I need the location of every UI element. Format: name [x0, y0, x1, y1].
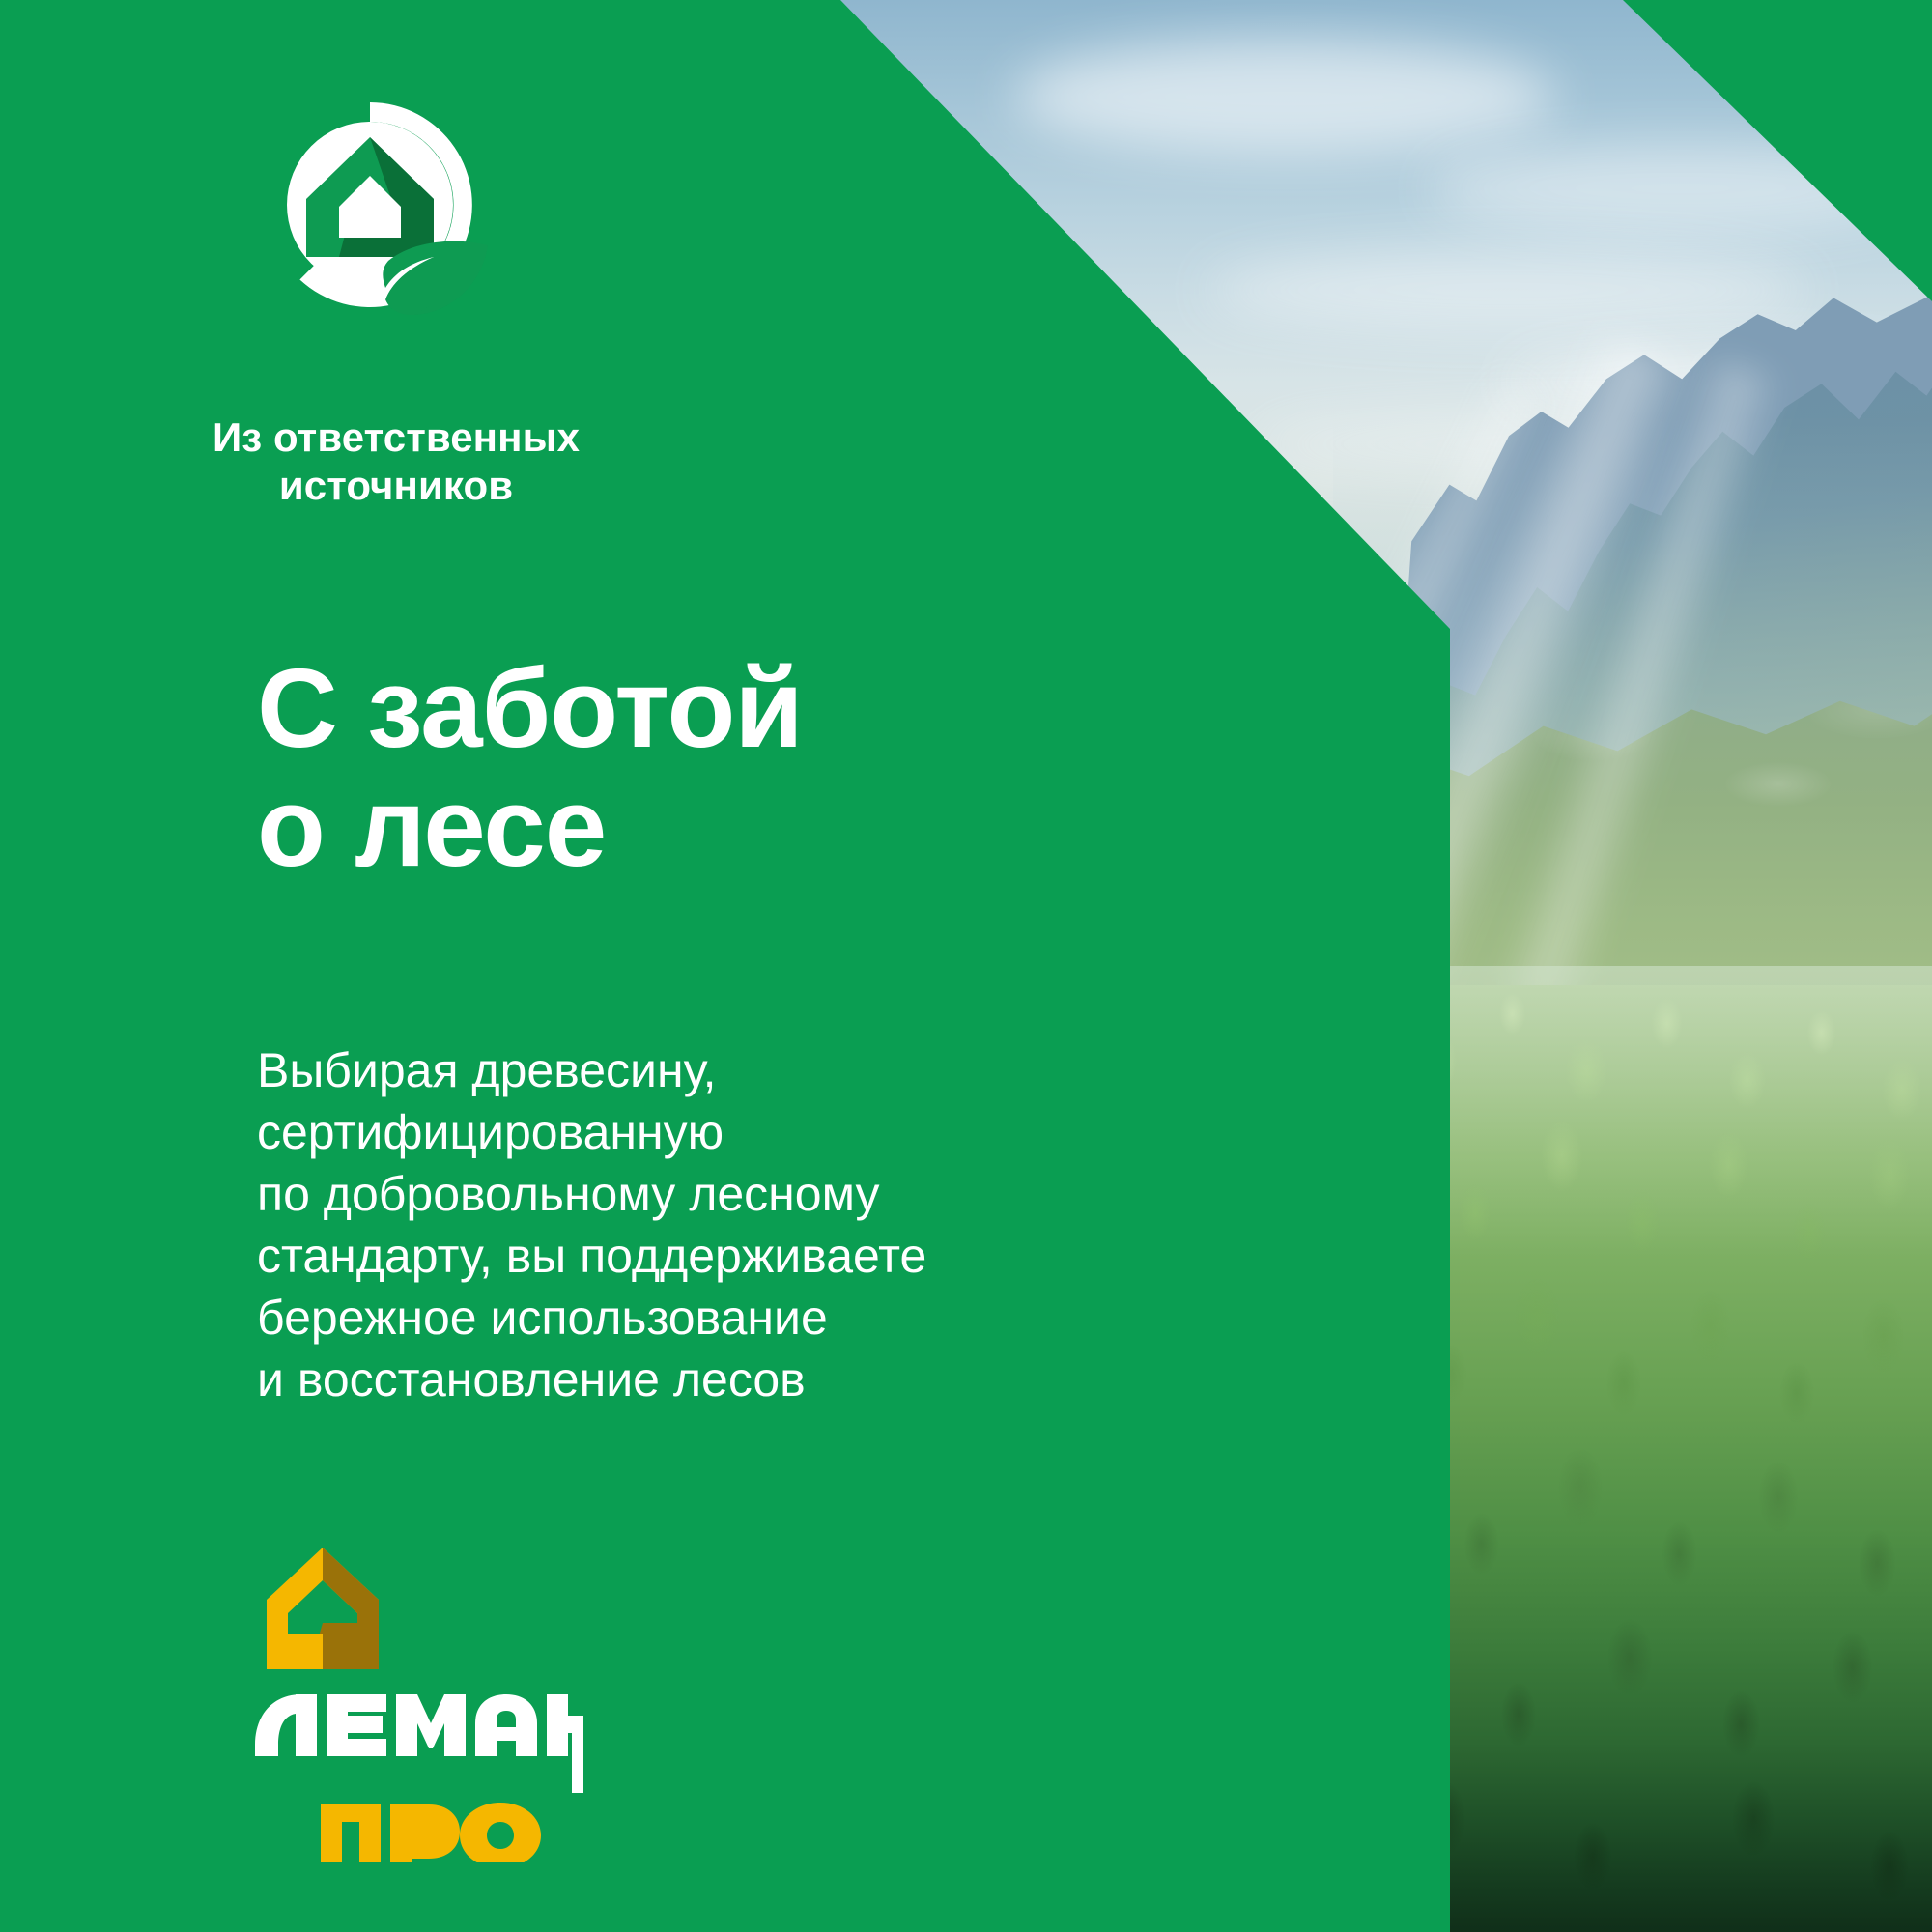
body-paragraph: Выбирая древесину, сертифицированную по … — [257, 1039, 1068, 1410]
lemana-house-icon — [259, 1544, 386, 1671]
cloud-shape — [1014, 39, 1555, 155]
eco-badge — [244, 95, 496, 327]
cloud-shape — [1207, 251, 1806, 328]
lemana-pro-logo — [251, 1544, 657, 1862]
poster-canvas: Из ответственных источников С заботой о … — [0, 0, 1932, 1932]
eco-badge-caption: Из ответственных источников — [145, 413, 647, 509]
circle-house-leaf-icon — [244, 95, 496, 327]
page-title: С заботой о лесе — [257, 649, 1126, 887]
